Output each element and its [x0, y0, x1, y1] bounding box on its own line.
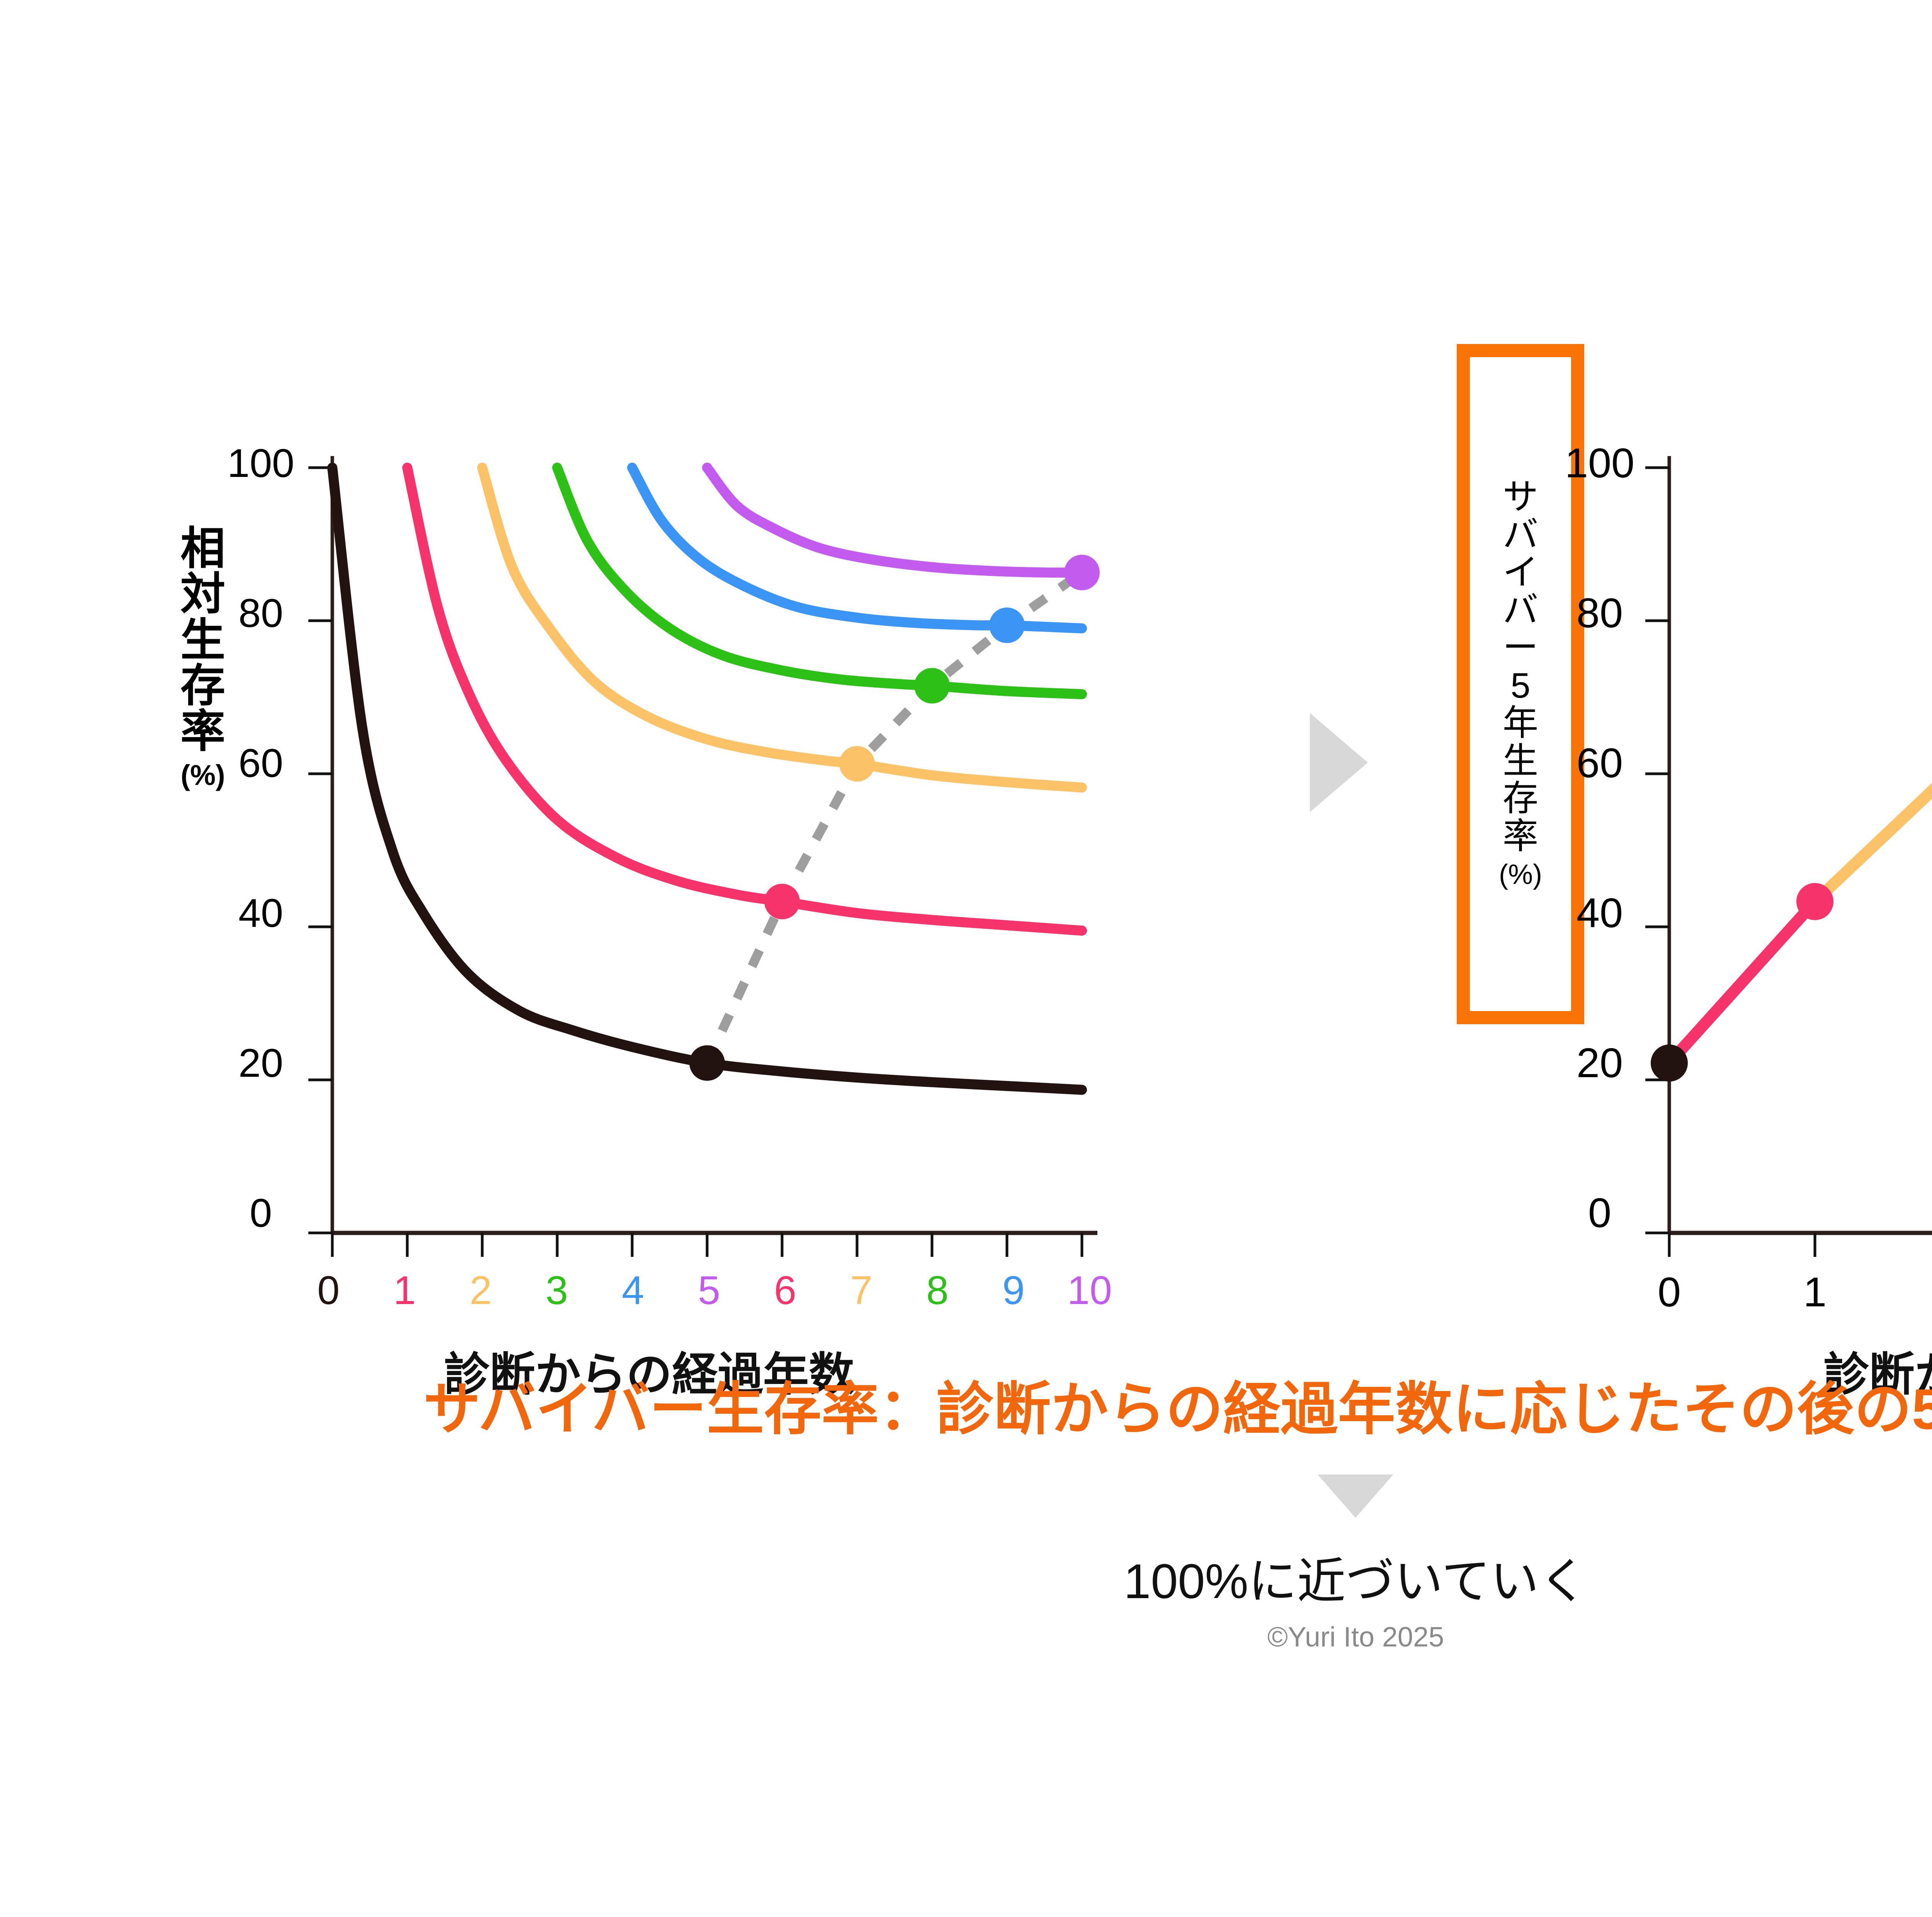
main-caption: サバイバー生存率：診断からの経過年数に応じたその後の5年相対生存率 [0, 1362, 1932, 1445]
copyright-text: ©Yuri Ito 2025 [0, 1621, 1932, 1653]
right-ytick-40: 40 [1553, 889, 1646, 937]
left-chart-panel: 相 対 生 存 率 (%) 100 80 60 40 20 0 0 1 2 3 … [147, 294, 1190, 1337]
left-ytick-0: 0 [216, 1190, 305, 1236]
left-ytick-60: 60 [216, 741, 305, 787]
callout-char: バ [1503, 592, 1538, 630]
left-xtick-9: 9 [979, 1268, 1048, 1314]
left-xtick-10: 10 [1047, 1268, 1132, 1314]
left-ytick-100: 100 [216, 441, 305, 487]
right-chart-panel: サ バ イ バ ー 5 年 生 存 率 (%) 100 80 60 40 20 … [1449, 294, 1932, 1337]
left-xtick-1: 1 [370, 1268, 439, 1314]
left-marker-5 [689, 1045, 725, 1081]
right-marker-1 [1796, 883, 1833, 920]
left-ytick-20: 20 [216, 1040, 305, 1086]
callout-char: サ [1503, 478, 1538, 516]
right-xtick-0: 0 [1631, 1268, 1708, 1316]
left-xtick-0: 0 [294, 1268, 363, 1314]
callout-char: ー [1503, 629, 1538, 667]
right-xtick-2: 2 [1922, 1268, 1932, 1316]
right-arrow-icon [1310, 713, 1368, 812]
survivor-survival-figure: 相 対 生 存 率 (%) 100 80 60 40 20 0 0 1 2 3 … [0, 0, 1932, 1917]
left-xtick-7: 7 [827, 1268, 896, 1314]
y-label-char: 存 [180, 663, 225, 708]
callout-unit: (%) [1499, 860, 1542, 889]
left-marker-9 [989, 608, 1025, 643]
right-ytick-80: 80 [1553, 589, 1646, 637]
left-marker-10 [1064, 555, 1100, 590]
left-xtick-5: 5 [674, 1268, 744, 1314]
left-xtick-8: 8 [903, 1268, 972, 1314]
right-marker-0 [1651, 1044, 1688, 1081]
left-marker-7 [839, 746, 875, 781]
left-xtick-6: 6 [750, 1268, 820, 1314]
left-marker-6 [764, 884, 800, 919]
left-xtick-4: 4 [598, 1268, 668, 1314]
sub-caption: 100%に近づいていく [0, 1542, 1932, 1612]
callout-char: イ [1503, 554, 1538, 592]
left-xtick-3: 3 [522, 1268, 592, 1314]
right-ytick-60: 60 [1553, 739, 1646, 787]
right-ytick-0: 0 [1553, 1188, 1646, 1237]
callout-char: バ [1503, 516, 1538, 554]
left-ytick-40: 40 [216, 890, 305, 936]
left-xtick-2: 2 [446, 1268, 515, 1314]
left-marker-8 [914, 668, 950, 703]
down-arrow-icon [1318, 1474, 1393, 1518]
callout-char: 生 [1503, 742, 1538, 780]
callout-char: 年 [1503, 705, 1538, 742]
left-ytick-80: 80 [216, 591, 305, 637]
right-ytick-20: 20 [1553, 1039, 1646, 1087]
callout-char: 存 [1503, 780, 1538, 818]
right-ytick-100: 100 [1553, 439, 1646, 487]
callout-char: 5 [1510, 667, 1530, 705]
right-xtick-1: 1 [1776, 1268, 1854, 1316]
callout-char: 率 [1503, 818, 1538, 856]
y-label-char: 相 [180, 526, 225, 571]
